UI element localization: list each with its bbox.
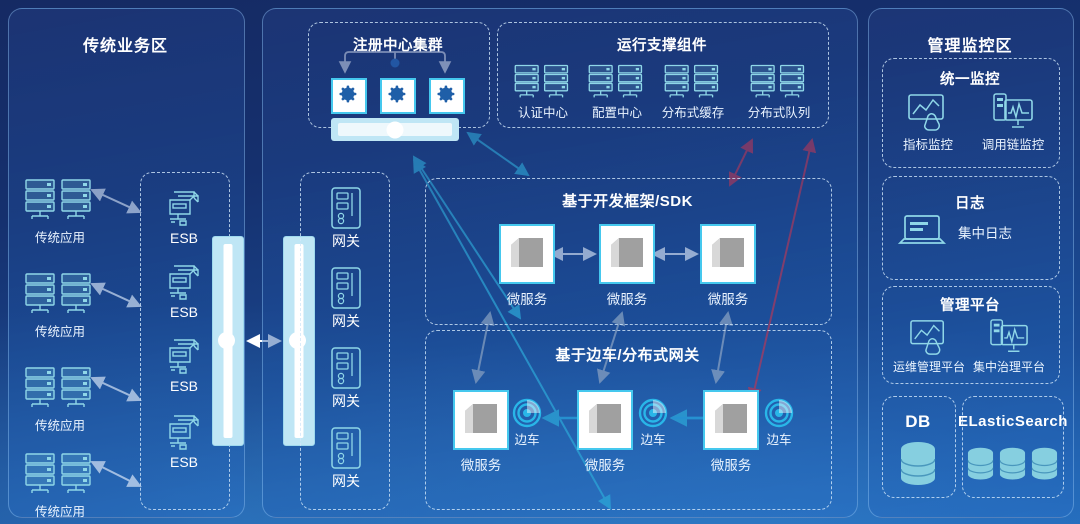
sidecar-microservice-item[interactable]: 微服务: [702, 390, 760, 474]
runtime-support-title: 运行支撑组件: [497, 34, 827, 55]
monitoring-label: 指标监控: [890, 134, 966, 153]
elasticsearch-icon-group[interactable]: [964, 443, 1060, 485]
registry-node[interactable]: [429, 78, 465, 114]
platform-label: 运维管理平台: [888, 358, 970, 375]
microservice-box: [703, 390, 759, 450]
sdk-microservice-label: 微服务: [699, 288, 757, 308]
zone-legacy-title: 传统业务区: [8, 32, 243, 56]
runtime-support-label: 认证中心: [505, 102, 581, 121]
sidecar-microservice-label: 微服务: [702, 454, 760, 474]
esb-bus-dot: [218, 332, 235, 349]
sidecar-label: 边车: [506, 429, 548, 448]
esb-item[interactable]: ESB: [150, 412, 218, 470]
architecture-diagram: 传统业务区 传统应用: [0, 0, 1080, 524]
microservice-box: [577, 390, 633, 450]
database-icon: [965, 443, 996, 485]
server-stack-icon: [748, 62, 810, 100]
esb-icon: [160, 336, 208, 378]
sidecar-item[interactable]: 边车: [506, 398, 548, 448]
sidecar-swirl-icon: [764, 398, 794, 428]
gateway-label: 网关: [312, 391, 380, 411]
cube-icon: [708, 235, 748, 273]
monitoring-label: 调用链监控: [972, 134, 1054, 153]
sdk-section-title: 基于开发框架/SDK: [425, 190, 830, 211]
registry-node[interactable]: [331, 78, 367, 114]
tracing-monitor-icon: [991, 92, 1035, 132]
cube-icon: [507, 235, 547, 273]
gateway-item[interactable]: 网关: [312, 426, 380, 491]
sidecar-item[interactable]: 边车: [632, 398, 674, 448]
registry-cluster-title: 注册中心集群: [308, 34, 488, 55]
ops-platform-icon: [907, 318, 951, 356]
log-label: 集中日志: [958, 222, 1012, 242]
cube-icon: [585, 401, 625, 439]
legacy-app-label: 传统应用: [22, 501, 98, 520]
runtime-support-label: 分布式队列: [738, 102, 820, 121]
zone-management-title: 管理监控区: [868, 32, 1072, 56]
runtime-support-item[interactable]: 分布式缓存: [652, 62, 734, 121]
sidecar-label: 边车: [632, 429, 674, 448]
log-item[interactable]: 集中日志: [898, 212, 1046, 252]
sidecar-microservice-label: 微服务: [576, 454, 634, 474]
legacy-app-label: 传统应用: [22, 415, 98, 434]
server-stack-icon: [22, 272, 98, 314]
sidecar-microservice-item[interactable]: 微服务: [452, 390, 510, 474]
gear-icon: [382, 80, 410, 108]
gateway-label: 网关: [312, 311, 380, 331]
server-stack-icon: [22, 452, 98, 494]
microservice-box: [453, 390, 509, 450]
sidecar-section-title: 基于边车/分布式网关: [425, 344, 830, 365]
sidecar-swirl-icon: [512, 398, 542, 428]
runtime-support-item[interactable]: 配置中心: [579, 62, 655, 121]
laptop-log-icon: [898, 212, 948, 252]
elasticsearch-title: ELasticSearch: [958, 413, 1066, 430]
gateway-icon: [329, 186, 363, 230]
cube-icon: [607, 235, 647, 273]
microservice-box: [499, 224, 555, 284]
gateway-icon: [329, 346, 363, 390]
runtime-support-item[interactable]: 分布式队列: [738, 62, 820, 121]
server-stack-icon: [22, 366, 98, 408]
esb-icon: [160, 262, 208, 304]
esb-label: ESB: [150, 230, 218, 246]
gateway-icon: [329, 266, 363, 310]
unified-monitoring-title: 统一监控: [882, 68, 1058, 89]
runtime-support-label: 分布式缓存: [652, 102, 734, 121]
gear-icon: [431, 80, 459, 108]
microservice-box: [700, 224, 756, 284]
gateway-item[interactable]: 网关: [312, 266, 380, 331]
legacy-app-label: 传统应用: [22, 227, 98, 246]
esb-item[interactable]: ESB: [150, 188, 218, 246]
database-icon: [897, 440, 939, 488]
sidecar-microservice-label: 微服务: [452, 454, 510, 474]
microservice-box: [599, 224, 655, 284]
gateway-icon: [329, 426, 363, 470]
database-icon: [1029, 443, 1060, 485]
esb-label: ESB: [150, 304, 218, 320]
slider-knob[interactable]: [387, 121, 404, 138]
registry-node[interactable]: [380, 78, 416, 114]
legacy-app-label: 传统应用: [22, 321, 98, 340]
sidecar-label: 边车: [758, 429, 800, 448]
governance-platform-icon: [987, 318, 1031, 356]
esb-label: ESB: [150, 454, 218, 470]
metrics-monitor-icon: [906, 92, 950, 132]
sdk-microservice-label: 微服务: [598, 288, 656, 308]
server-stack-icon: [512, 62, 574, 100]
sidecar-swirl-icon: [638, 398, 668, 428]
esb-icon: [160, 188, 208, 230]
sdk-microservice-item[interactable]: 微服务: [699, 224, 757, 308]
legacy-app-item[interactable]: 传统应用: [22, 178, 98, 246]
gateway-item[interactable]: 网关: [312, 346, 380, 411]
gateway-label: 网关: [312, 471, 380, 491]
runtime-support-item[interactable]: 认证中心: [505, 62, 581, 121]
db-title: DB: [882, 412, 954, 432]
legacy-app-item[interactable]: 传统应用: [22, 452, 98, 520]
legacy-app-item[interactable]: 传统应用: [22, 272, 98, 340]
sdk-microservice-item[interactable]: 微服务: [498, 224, 556, 308]
monitoring-item[interactable]: 调用链监控: [972, 92, 1054, 153]
database-icon: [997, 443, 1028, 485]
gear-icon: [333, 80, 361, 108]
esb-item[interactable]: ESB: [150, 262, 218, 320]
db-icon-group[interactable]: [882, 440, 954, 488]
cube-icon: [711, 401, 751, 439]
server-stack-icon: [586, 62, 648, 100]
cube-icon: [461, 401, 501, 439]
monitoring-item[interactable]: 指标监控: [890, 92, 966, 153]
platform-item[interactable]: 运维管理平台: [888, 318, 970, 375]
registry-load-balancer[interactable]: [331, 118, 459, 141]
sdk-microservice-label: 微服务: [498, 288, 556, 308]
sdk-microservice-item[interactable]: 微服务: [598, 224, 656, 308]
platform-item[interactable]: 集中治理平台: [968, 318, 1050, 375]
runtime-support-label: 配置中心: [579, 102, 655, 121]
sidecar-item[interactable]: 边车: [758, 398, 800, 448]
server-stack-icon: [662, 62, 724, 100]
esb-icon: [160, 412, 208, 454]
management-platform-title: 管理平台: [882, 294, 1058, 315]
sidecar-microservice-item[interactable]: 微服务: [576, 390, 634, 474]
server-stack-icon: [22, 178, 98, 220]
gateway-label: 网关: [312, 231, 380, 251]
log-title: 日志: [882, 192, 1058, 213]
legacy-app-item[interactable]: 传统应用: [22, 366, 98, 434]
gateway-item[interactable]: 网关: [312, 186, 380, 251]
esb-item[interactable]: ESB: [150, 336, 218, 394]
platform-label: 集中治理平台: [968, 358, 1050, 375]
esb-label: ESB: [150, 378, 218, 394]
